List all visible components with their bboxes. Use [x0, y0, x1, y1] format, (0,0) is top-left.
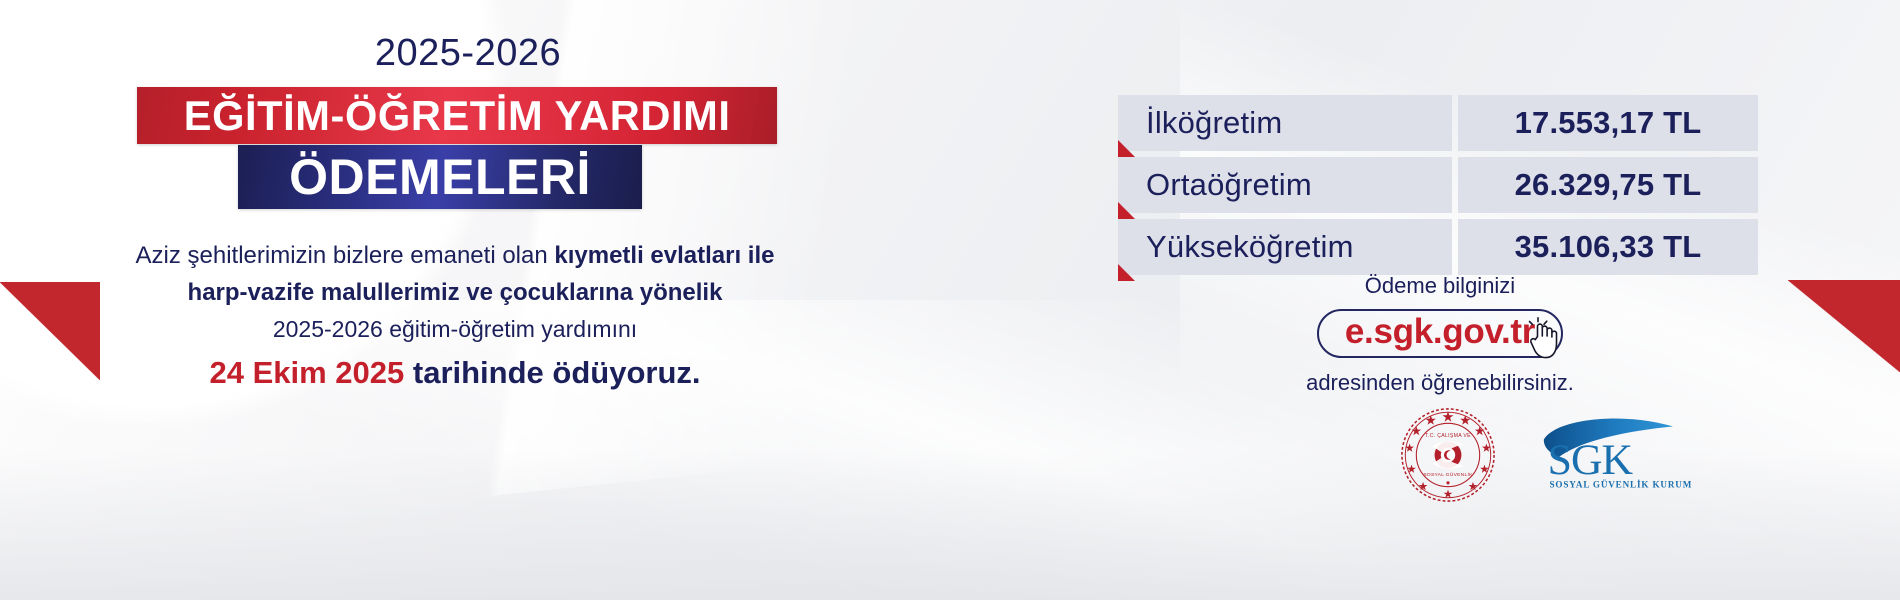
- website-link[interactable]: e.sgk.gov.tr: [1317, 309, 1563, 359]
- body-line-1-bold: kıymetli evlatları ile: [554, 242, 774, 269]
- svg-text:T.C. ÇALIŞMA VE: T.C. ÇALIŞMA VE: [1425, 433, 1471, 439]
- logo-row: T.C. ÇALIŞMA VE SOSYAL GÜVENLİK T.C. ÇAL…: [1400, 400, 1820, 510]
- hand-pointer-icon: [1523, 317, 1563, 361]
- sgk-logo-icon: SGK SOSYAL GÜVENLİK KURUMU: [1540, 411, 1692, 499]
- education-level-label: İlköğretim: [1118, 95, 1452, 151]
- table-row: Ortaöğretim 26.329,75 TL: [1118, 157, 1758, 213]
- cta-lead-text: Ödeme bilginizi: [1110, 272, 1770, 301]
- table-row: İlköğretim 17.553,17 TL: [1118, 95, 1758, 151]
- cta-block: Ödeme bilginizi e.sgk.gov.tr adresinden …: [1110, 272, 1770, 396]
- body-line-1-plain: Aziz şehitlerimizin bizlere emaneti olan: [136, 242, 555, 269]
- table-row: Yükseköğretim 35.106,33 TL: [1118, 219, 1758, 275]
- body-copy: Aziz şehitlerimizin bizlere emaneti olan…: [60, 240, 850, 394]
- website-url-text: e.sgk.gov.tr: [1345, 314, 1535, 351]
- svg-text:SGK: SGK: [1548, 436, 1634, 484]
- body-line-4: 24 Ekim 2025 tarihinde ödüyoruz.: [60, 353, 850, 394]
- rate-table: İlköğretim 17.553,17 TL Ortaöğretim 26.3…: [1118, 95, 1758, 281]
- row-marker-icon: [1118, 202, 1135, 219]
- headline-red-band: EĞİTİM-ÖĞRETİM YARDIMI: [137, 87, 777, 144]
- ministry-seal-icon: T.C. ÇALIŞMA VE SOSYAL GÜVENLİK: [1400, 407, 1496, 503]
- education-level-label: Yükseköğretim: [1118, 219, 1452, 275]
- cta-tail-text: adresinden öğrenebilirsiniz.: [1110, 370, 1770, 396]
- body-line-1: Aziz şehitlerimizin bizlere emaneti olan…: [60, 240, 850, 272]
- headline-column: 2025-2026 EĞİTİM-ÖĞRETİM YARDIMI ÖDEMELE…: [0, 0, 900, 600]
- headline-blue-text: ÖDEMELERİ: [289, 152, 591, 202]
- payment-date: 24 Ekim 2025: [210, 355, 405, 390]
- body-line-2: harp-vazife malullerimiz ve çocuklarına …: [60, 277, 850, 309]
- education-level-amount: 17.553,17 TL: [1458, 95, 1758, 151]
- education-level-label: Ortaöğretim: [1118, 157, 1452, 213]
- headline-red-text: EĞİTİM-ÖĞRETİM YARDIMI: [184, 95, 731, 137]
- headline-blue-band: ÖDEMELERİ: [238, 145, 642, 209]
- body-line-3: 2025-2026 eğitim-öğretim yardımını: [60, 314, 850, 344]
- payment-announcement-banner: 2025-2026 EĞİTİM-ÖĞRETİM YARDIMI ÖDEMELE…: [0, 0, 1900, 600]
- education-level-amount: 26.329,75 TL: [1458, 157, 1758, 213]
- academic-year-label: 2025-2026: [148, 32, 788, 75]
- row-marker-icon: [1118, 140, 1135, 157]
- education-level-amount: 35.106,33 TL: [1458, 219, 1758, 275]
- svg-text:SOSYAL GÜVENLİK: SOSYAL GÜVENLİK: [1423, 471, 1473, 478]
- payment-date-suffix: tarihinde ödüyoruz.: [404, 355, 700, 390]
- svg-text:SOSYAL GÜVENLİK KURUMU: SOSYAL GÜVENLİK KURUMU: [1550, 479, 1693, 489]
- amounts-column: İlköğretim 17.553,17 TL Ortaöğretim 26.3…: [1110, 0, 1900, 600]
